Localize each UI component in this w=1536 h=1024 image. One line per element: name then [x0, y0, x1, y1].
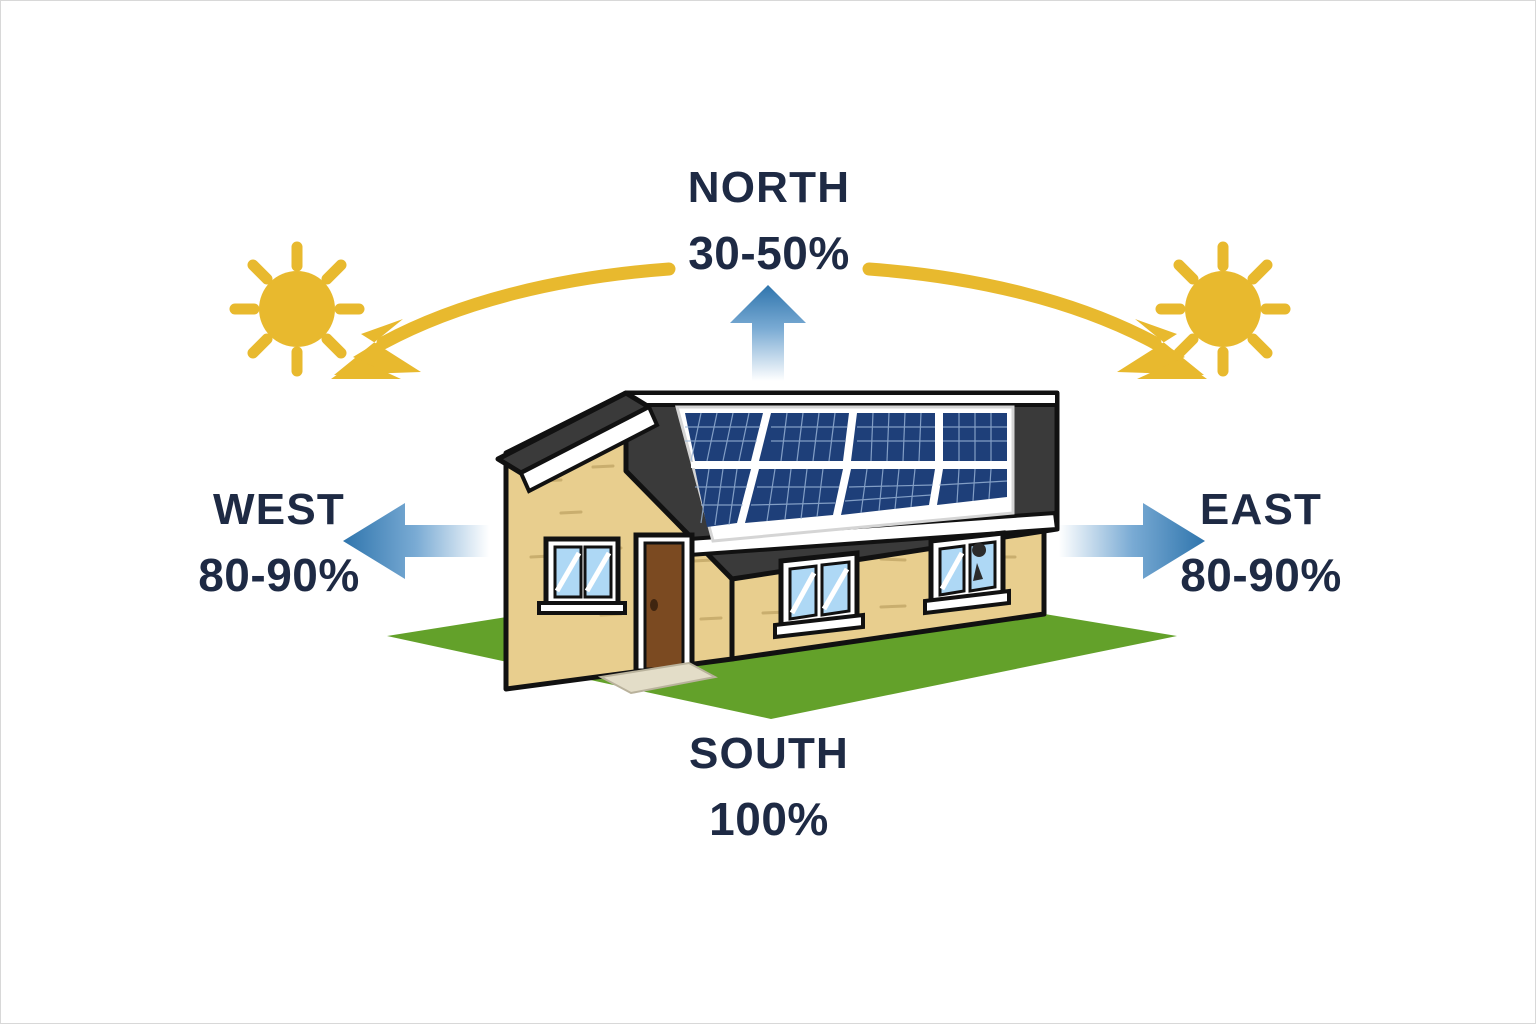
front-door — [636, 535, 692, 671]
window-side-left — [775, 553, 863, 637]
sun-icon-left — [235, 247, 359, 371]
sun-path-arc-arrow-icon-left — [331, 269, 669, 379]
direction-name-east: EAST — [1111, 483, 1411, 537]
arrow-up-icon — [730, 285, 806, 381]
direction-value-west: 80-90% — [129, 547, 429, 603]
direction-value-south: 100% — [619, 791, 919, 847]
direction-label-west: WEST 80-90% — [129, 483, 429, 603]
direction-label-north: NORTH 30-50% — [619, 161, 919, 281]
window-front — [539, 539, 625, 613]
solar-orientation-diagram: NORTH 30-50% WEST 80-90% EAST 80-90% SOU… — [0, 0, 1536, 1024]
house-with-solar-panels-illustration — [387, 393, 1177, 719]
window-side-right — [925, 533, 1009, 613]
direction-value-east: 80-90% — [1111, 547, 1411, 603]
direction-label-south: SOUTH 100% — [619, 727, 919, 847]
direction-name-west: WEST — [129, 483, 429, 537]
direction-value-north: 30-50% — [619, 225, 919, 281]
direction-name-north: NORTH — [619, 161, 919, 215]
direction-name-south: SOUTH — [619, 727, 919, 781]
direction-label-east: EAST 80-90% — [1111, 483, 1411, 603]
sun-icon-right — [1161, 247, 1285, 371]
sun-path-arc-arrow-icon-right — [869, 269, 1207, 379]
